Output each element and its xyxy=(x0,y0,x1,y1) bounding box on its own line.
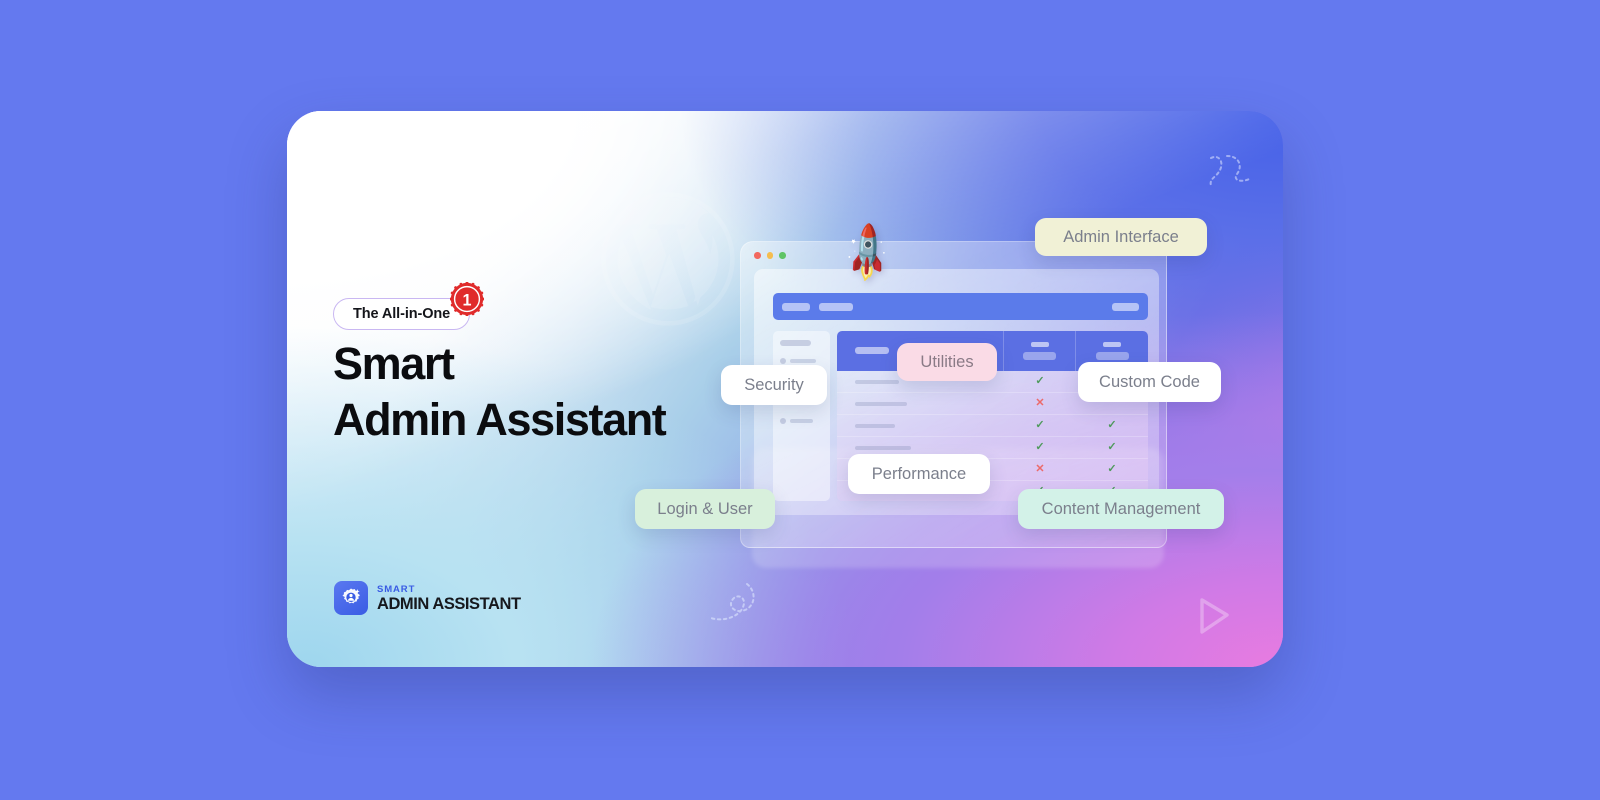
brand-logo: SMART ADMIN ASSISTANT xyxy=(334,581,521,615)
sidebar-item-label-placeholder xyxy=(790,419,813,423)
feature-pill-security[interactable]: Security xyxy=(721,365,827,405)
table-cell-status: ✕ xyxy=(1004,398,1076,409)
table-cell-status: ✓ xyxy=(1004,442,1076,453)
play-triangle-icon xyxy=(1189,593,1235,639)
toolbar-chip xyxy=(782,303,810,311)
cell-label-placeholder xyxy=(855,380,899,384)
logo-text: SMART ADMIN ASSISTANT xyxy=(377,584,521,613)
feature-pill-label: Login & User xyxy=(657,500,752,519)
feature-pill-content-management[interactable]: Content Management xyxy=(1018,489,1224,529)
feature-pill-label: Security xyxy=(744,376,804,395)
logo-smart-label: SMART xyxy=(377,584,521,595)
cell-label-placeholder xyxy=(855,402,907,406)
bullet-icon xyxy=(780,418,786,424)
feature-pill-label: Content Management xyxy=(1042,500,1201,519)
headline-line-2: Admin Assistant xyxy=(333,392,665,448)
minimize-icon[interactable] xyxy=(767,252,774,259)
toolbar-chip xyxy=(819,303,853,311)
column-label-placeholder xyxy=(855,347,889,354)
column-label-placeholder xyxy=(1031,342,1049,347)
sidebar-item[interactable] xyxy=(780,418,823,424)
maximize-icon[interactable] xyxy=(779,252,786,259)
feature-pill-label: Utilities xyxy=(920,353,973,372)
feature-pill-label: Custom Code xyxy=(1099,373,1200,392)
table-cell-status: ✕ xyxy=(1004,464,1076,475)
table-cell-name xyxy=(837,446,1004,450)
table-cell-status: ✓ xyxy=(1076,442,1148,453)
bullet-icon xyxy=(780,358,786,364)
feature-pill-performance[interactable]: Performance xyxy=(848,454,990,494)
admin-toolbar xyxy=(773,293,1148,320)
table-cell-status: ✓ xyxy=(1004,420,1076,431)
feature-pill-label: Performance xyxy=(872,465,966,484)
cell-label-placeholder xyxy=(855,446,911,450)
sidebar-item-label-placeholder xyxy=(790,359,816,363)
feature-pill-admin-interface[interactable]: Admin Interface xyxy=(1035,218,1207,256)
table-cell-name xyxy=(837,402,1004,406)
eyebrow-label: The All-in-One xyxy=(353,306,450,322)
table-cell-status: ✓ xyxy=(1076,464,1148,475)
table-cell-status: ✓ xyxy=(1076,420,1148,431)
column-label-placeholder xyxy=(1103,342,1121,347)
wordpress-logo-icon xyxy=(598,189,738,329)
toolbar-chip xyxy=(1112,303,1139,311)
sidebar-item[interactable] xyxy=(780,358,823,364)
feature-pill-label: Admin Interface xyxy=(1063,228,1179,247)
column-subtitle-placeholder xyxy=(1096,352,1129,360)
feature-pill-login-user[interactable]: Login & User xyxy=(635,489,775,529)
table-row[interactable]: ✓✓ xyxy=(837,415,1148,437)
page-title: Smart Admin Assistant xyxy=(333,336,665,448)
column-subtitle-placeholder xyxy=(1023,352,1056,360)
svg-text:1: 1 xyxy=(463,291,472,309)
logo-name-label: ADMIN ASSISTANT xyxy=(377,595,521,613)
dotted-curl-icon xyxy=(707,580,765,632)
headline-line-1: Smart xyxy=(333,336,665,392)
feature-pill-custom-code[interactable]: Custom Code xyxy=(1078,362,1221,402)
table-column-header[interactable] xyxy=(1004,331,1076,371)
gear-user-icon xyxy=(334,581,368,615)
eyebrow-wrapper: The All-in-One 1 xyxy=(333,298,470,330)
table-cell-name xyxy=(837,424,1004,428)
close-icon[interactable] xyxy=(754,252,761,259)
feature-pill-utilities[interactable]: Utilities xyxy=(897,343,997,381)
hero-card: The All-in-One 1 Smart xyxy=(287,111,1283,667)
sidebar-heading-placeholder xyxy=(780,340,811,346)
dotted-curl-icon xyxy=(1207,152,1257,194)
rosette-badge-one-icon: 1 xyxy=(450,282,484,316)
cell-label-placeholder xyxy=(855,424,895,428)
admin-sidebar xyxy=(773,331,830,501)
table-cell-status: ✓ xyxy=(1004,376,1076,387)
